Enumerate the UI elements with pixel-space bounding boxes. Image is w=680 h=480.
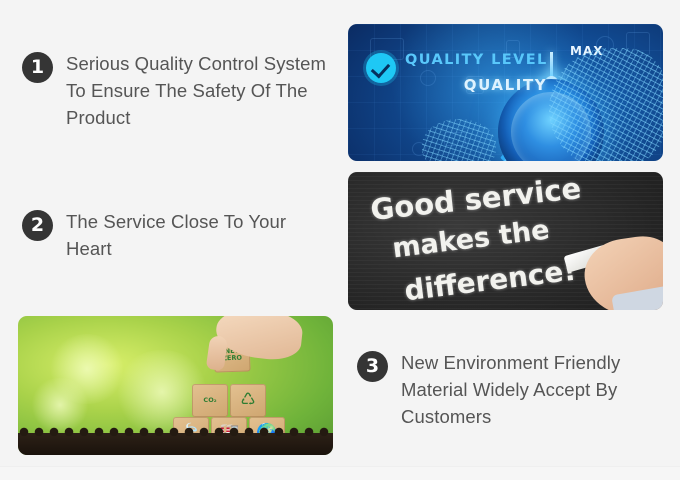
feature-list-page: 1 Serious Quality Control System To Ensu…	[0, 0, 680, 480]
bottom-strip	[0, 466, 680, 480]
feature-title-1: Serious Quality Control System To Ensure…	[66, 50, 331, 131]
quality-control-dial-image: QUALITY LEVEL MAX QUALITY	[348, 24, 663, 161]
feature-number-badge-3: 3	[357, 351, 388, 382]
feature-item-3: 3 New Environment Friendly Material Wide…	[357, 349, 666, 430]
chalk-line-3: difference!	[403, 254, 578, 308]
feature-title-2: The Service Close To Your Heart	[66, 208, 331, 262]
soil-ground	[18, 433, 333, 455]
co2-label: CO₂	[203, 397, 216, 404]
feature-item-2: 2 The Service Close To Your Heart	[22, 208, 331, 262]
feature-item-1: 1 Serious Quality Control System To Ensu…	[22, 50, 331, 131]
feature-title-3: New Environment Friendly Material Widely…	[401, 349, 666, 430]
chalk-line-1: Good service	[369, 172, 583, 227]
co2-block: CO₂	[192, 384, 228, 417]
recycle-icon: ♺	[240, 392, 255, 409]
chalkboard-service-image: Good service makes the difference!	[348, 172, 663, 310]
feature-number-badge-2: 2	[22, 210, 53, 241]
recycle-block: ♺	[230, 384, 266, 417]
feature-number-badge-1: 1	[22, 52, 53, 83]
bokeh-light	[30, 378, 90, 432]
wireframe-hand	[549, 48, 663, 161]
knob-label: QUALITY	[348, 76, 663, 94]
eco-wooden-blocks-image: NET ZERO CO₂ ♺ 🍃 🏭 🌍	[18, 316, 333, 455]
